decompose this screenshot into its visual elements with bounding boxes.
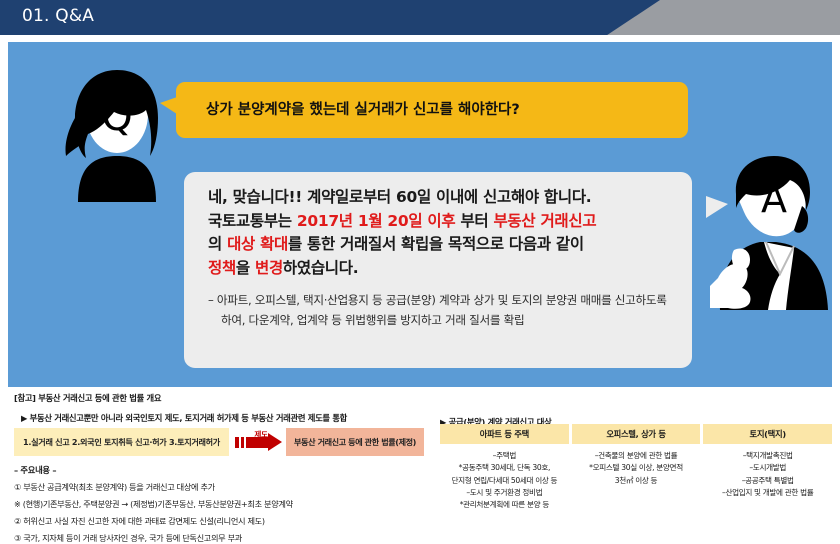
bottom-right-column: ▶ 공급(분양) 계약 거래신고 대상 아파트 등 주택 오피스텔, 상가 등 … <box>440 392 832 428</box>
flow-source-box: 1.실거래 신고 2.외국인 토지취득 신고·허가 3.토지거래허가 <box>14 428 229 456</box>
flow-target-box: 부동산 거래신고 등에 관한 법률(제정) <box>286 428 424 456</box>
flow-arrow-icon: 제도일원화 <box>235 430 283 454</box>
table-cell: –택지개발촉진법–도시개발법–공공주택 특별법–산업입지 및 개발에 관한 법률 <box>703 450 832 511</box>
main-contents-heading: – 주요내용 – <box>14 464 426 476</box>
reference-bullet: ▶ 부동산 거래신고뿐만 아니라 외국인토지 제도, 토지거래 허가제 등 부동… <box>14 412 424 424</box>
supply-target-table: 아파트 등 주택 오피스텔, 상가 등 토지(택지) –주택법*공동주택 30세… <box>440 424 832 511</box>
list-item: ※ (현행)기존부동산, 주택분양권 → (제정법)기존부동산, 부동산분양권+… <box>14 500 426 510</box>
list-item: ② 허위신고 사실 자진 신고한 자에 대한 과태료 감면제도 신설(리니언시 … <box>14 517 426 527</box>
answer-line1: 네, 맞습니다!! 계약일로부터 60일 이내에 신고해야 합니다. <box>208 188 591 206</box>
flow-source-label: 1.실거래 신고 2.외국인 토지취득 신고·허가 3.토지거래허가 <box>23 437 220 448</box>
answer-line2-prefix: 국토교통부는 <box>208 212 297 230</box>
answerer-avatar: A <box>690 150 840 310</box>
answer-line4-rest: 하였습니다. <box>283 259 358 277</box>
question-text: 상가 분양계약을 했는데 실거래가 신고를 해야한다? <box>206 98 520 119</box>
questioner-avatar-letter: Q <box>101 94 132 140</box>
answerer-avatar-letter: A <box>761 177 787 221</box>
table-header-cell: 오피스텔, 상가 등 <box>572 424 701 444</box>
main-contents-list: – 주요내용 – ① 부동산 공급계약(최초 분양계약) 등을 거래신고 대상에… <box>14 464 426 543</box>
slide-header: 01. Q&A <box>0 0 840 35</box>
law-integration-flow: 1.실거래 신고 2.외국인 토지취득 신고·허가 3.토지거래허가 제도일원화… <box>14 428 424 456</box>
answer-highlight-policy: 정책 <box>208 259 236 277</box>
reference-title: [참고] 부동산 거래신고 등에 관한 법률 개요 <box>14 392 424 404</box>
flow-arrow-label: 제도일원화 <box>241 431 281 448</box>
slide: 01. Q&A Q 상가 분양계약을 했는데 실거래가 신고를 해야한다? A <box>0 0 840 544</box>
table-header-cell: 아파트 등 주택 <box>440 424 569 444</box>
answer-highlight-date: 2017년 1월 20일 이후 <box>297 212 455 230</box>
list-item: ① 부동산 공급계약(최초 분양계약) 등을 거래신고 대상에 추가 <box>14 483 426 493</box>
list-item: ③ 국가, 지자체 등이 거래 당사자인 경우, 국가 등에 단독신고의무 부과 <box>14 534 426 544</box>
answer-bubble: 네, 맞습니다!! 계약일로부터 60일 이내에 신고해야 합니다. 국토교통부… <box>184 172 692 368</box>
answer-line4-mid: 을 <box>236 259 255 277</box>
answer-highlight-change: 변경 <box>255 259 283 277</box>
questioner-avatar: Q <box>42 52 192 202</box>
table-header-cell: 토지(택지) <box>703 424 832 444</box>
page-title: 01. Q&A <box>22 6 94 26</box>
answer-highlight-expansion: 대상 확대 <box>227 235 288 253</box>
bottom-left-column: [참고] 부동산 거래신고 등에 관한 법률 개요 ▶ 부동산 거래신고뿐만 아… <box>14 392 424 424</box>
table-cell: –건축물의 분양에 관한 법률*오피스텔 30실 이상, 분양면적3천㎡ 이상 … <box>572 450 701 511</box>
answer-line3-prefix: 의 <box>208 235 227 253</box>
flow-target-label: 부동산 거래신고 등에 관한 법률(제정) <box>294 437 416 447</box>
table-header-row: 아파트 등 주택 오피스텔, 상가 등 토지(택지) <box>440 424 832 444</box>
answer-main-text: 네, 맞습니다!! 계약일로부터 60일 이내에 신고해야 합니다. 국토교통부… <box>208 186 670 280</box>
answer-highlight-report: 부동산 거래신고 <box>493 212 596 230</box>
answer-bubble-tail <box>706 196 728 218</box>
question-bubble: 상가 분양계약을 했는데 실거래가 신고를 해야한다? <box>176 82 688 138</box>
answer-sub-bullet: – 아파트, 오피스텔, 택지·산업용지 등 공급(분양) 계약과 상가 및 토… <box>208 291 670 331</box>
answer-line3-rest: 를 통한 거래질서 확립을 목적으로 다음과 같이 <box>288 235 584 253</box>
bottom-section: [참고] 부동산 거래신고 등에 관한 법률 개요 ▶ 부동산 거래신고뿐만 아… <box>0 392 840 544</box>
table-cell: –주택법*공동주택 30세대, 단독 30호,단지형 연립/다세대 50세대 이… <box>440 450 569 511</box>
header-navy-band <box>0 0 660 35</box>
answer-line2-mid: 부터 <box>455 212 493 230</box>
table-row: –주택법*공동주택 30세대, 단독 30호,단지형 연립/다세대 50세대 이… <box>440 450 832 511</box>
